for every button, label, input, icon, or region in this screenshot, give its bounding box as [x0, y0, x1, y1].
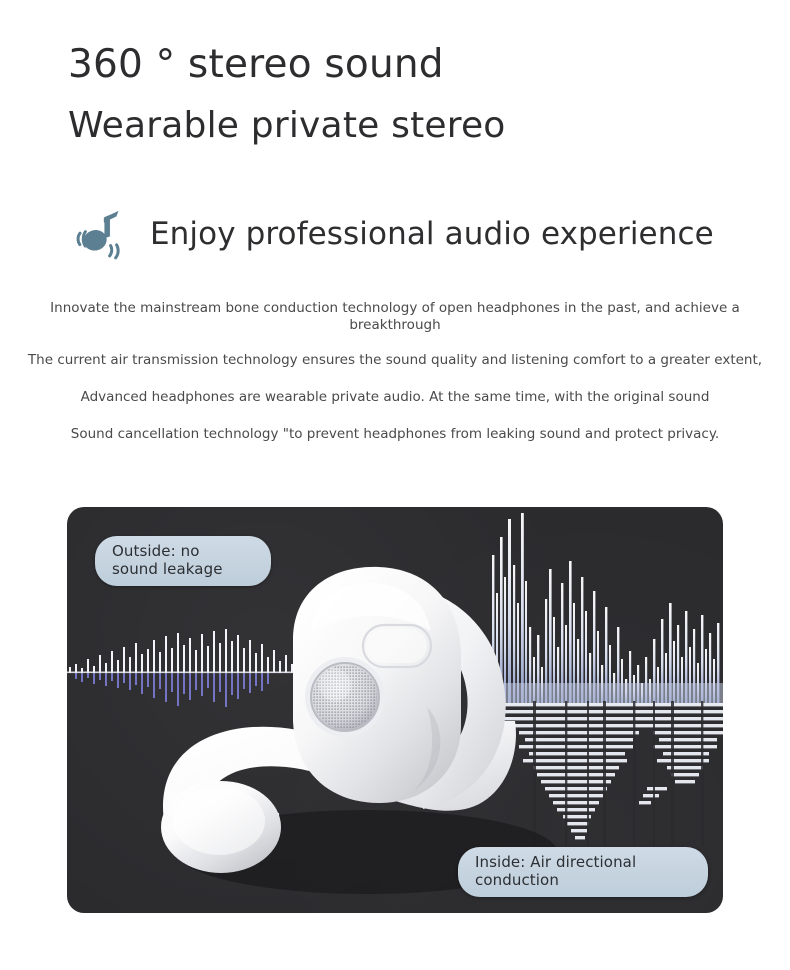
body-line: Sound cancellation technology "to preven… [0, 426, 790, 443]
inside-conduction-waveform [487, 513, 723, 705]
headline-block: 360 ° stereo sound Wearable private ster… [68, 38, 768, 151]
outside-leakage-waveform [67, 629, 317, 707]
body-line: Advanced headphones are wearable private… [0, 389, 790, 406]
label-outside-no-sound-leakage: Outside: no sound leakage [95, 536, 271, 586]
music-note-icon [68, 203, 130, 265]
body-line: The current air transmission technology … [0, 352, 790, 369]
subheading-text: Enjoy professional audio experience [150, 216, 714, 252]
conduction-scanline-bars [497, 701, 723, 846]
product-feature-page: 360 ° stereo sound Wearable private ster… [0, 0, 790, 970]
label-inside-air-directional-conduction: Inside: Air directional conduction [458, 847, 708, 897]
body-line: Innovate the mainstream bone conduction … [0, 300, 790, 335]
page-title: 360 ° stereo sound [68, 38, 768, 92]
body-copy: Innovate the mainstream bone conduction … [0, 300, 790, 443]
speaker-grille-icon [305, 657, 385, 737]
subheading-row: Enjoy professional audio experience [68, 198, 768, 270]
product-image-panel: Outside: no sound leakage Inside: Air di… [67, 507, 723, 913]
page-subtitle: Wearable private stereo [68, 100, 768, 151]
